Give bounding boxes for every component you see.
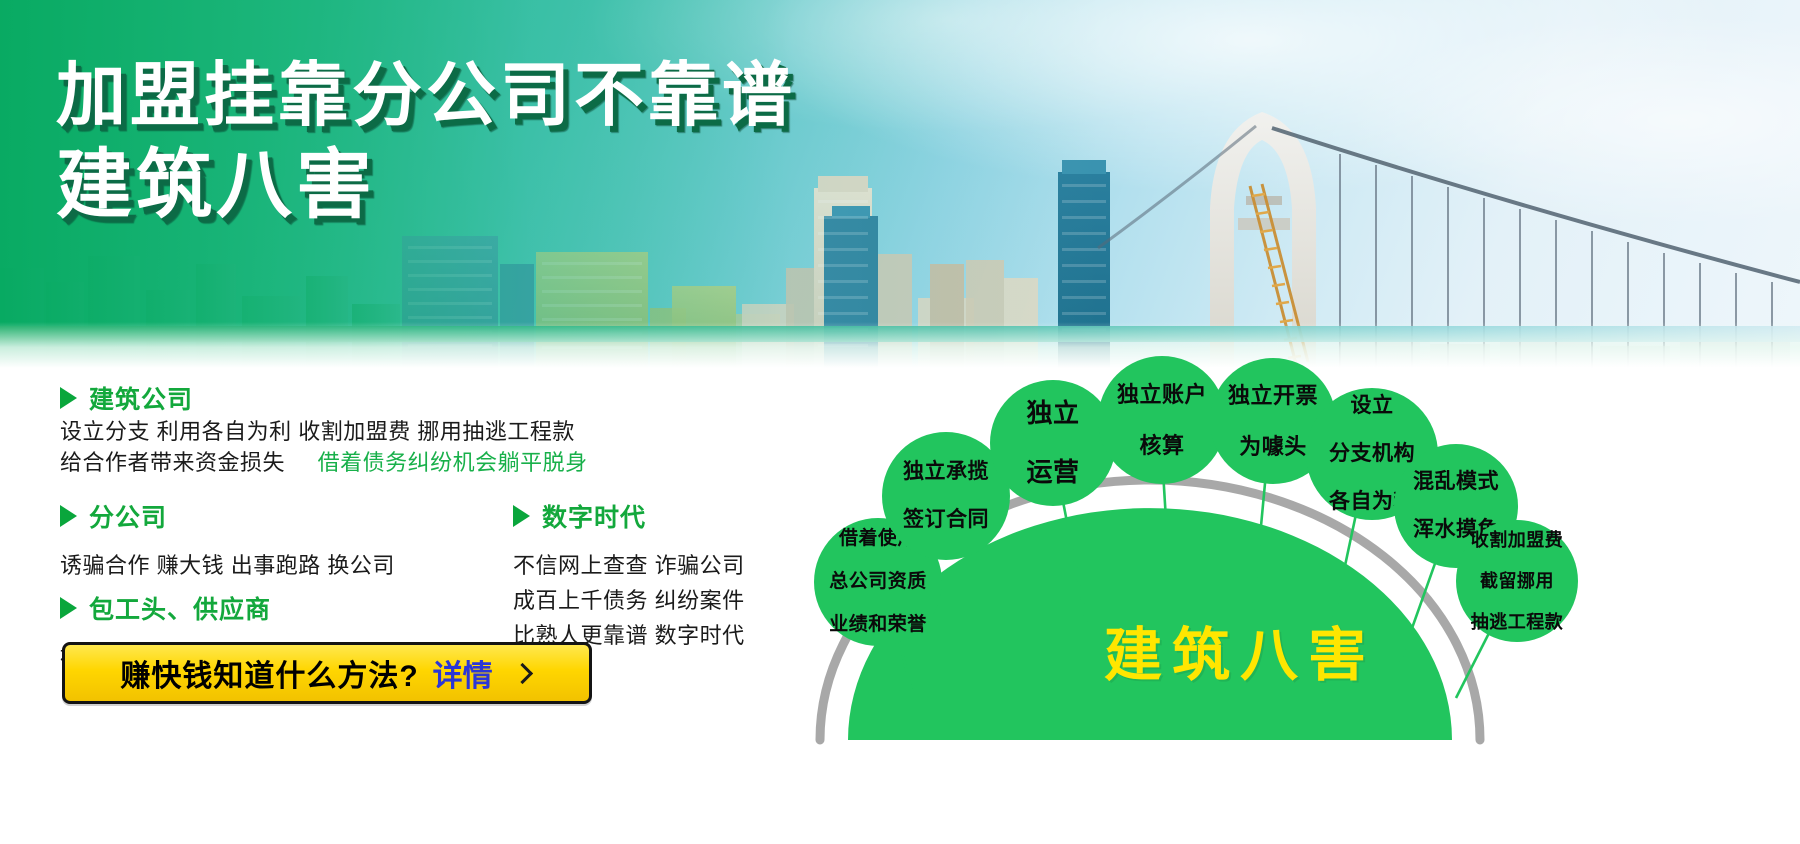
bubble-3[interactable]: 独立 运营 — [990, 380, 1116, 506]
bubble-2-line-2: 签订合同 — [897, 508, 995, 532]
bubble-3-line-1: 独立 — [1020, 399, 1085, 429]
left-content-column: 建筑公司 设立分支 利用各自为利 收割加盟费 挪用抽逃工程款 给合作者带来资金损… — [0, 380, 820, 844]
section-heading-contractor-supplier: 包工头、供应商 — [60, 590, 411, 626]
triangle-bullet-icon — [513, 505, 530, 527]
digital-age-line-2: 成百上千债务 纠纷案件 — [513, 585, 745, 616]
cta-detail-link[interactable]: 详情 — [433, 651, 493, 695]
digital-age-line-1: 不信网上查查 诈骗公司 — [513, 550, 745, 581]
section-title-text: 包工头、供应商 — [89, 590, 271, 626]
section-heading-branch-company: 分公司 — [60, 498, 395, 534]
section-branch-company: 分公司 诱骗合作 赚大钱 出事跑路 换公司 — [60, 498, 395, 581]
construction-company-line-2: 给合作者带来资金损失 借着债务纠纷机会躺平脱身 — [60, 447, 588, 478]
construction-company-line-2-black: 给合作者带来资金损失 — [60, 450, 285, 475]
bubble-7-line-1: 混乱模式 — [1407, 470, 1505, 494]
bubble-1-line-2: 总公司资质 — [823, 571, 933, 593]
bubble-3-line-2: 运营 — [1020, 458, 1085, 488]
bubble-8-line-2: 截留挪用 — [1465, 571, 1570, 592]
eight-harms-diagram: 借着使用 总公司资质 业绩和荣誉 独立承揽 签订合同 独立 运营 独立账户 核算… — [800, 340, 1800, 844]
cta-button[interactable]: 赚快钱知道什么方法? 详情 — [62, 642, 592, 704]
arch-center-label: 建筑八害 — [960, 608, 1520, 692]
section-digital-age: 数字时代 不信网上查查 诈骗公司 成百上千债务 纠纷案件 比熟人更靠谱 数字时代 — [513, 498, 745, 652]
section-heading-digital-age: 数字时代 — [513, 498, 745, 534]
construction-company-line-1: 设立分支 利用各自为利 收割加盟费 挪用抽逃工程款 — [60, 416, 588, 447]
bubble-4[interactable]: 独立账户 核算 — [1098, 356, 1226, 484]
hero-title-line-1: 加盟挂靠分公司不靠谱 — [56, 58, 796, 132]
bubble-8-line-1: 收割加盟费 — [1465, 530, 1570, 551]
bubble-6-line-2: 分支机构 — [1323, 442, 1421, 466]
triangle-bullet-icon — [60, 597, 77, 619]
bubble-1-line-3: 业绩和荣誉 — [823, 614, 933, 636]
construction-company-line-2-green: 借着债务纠纷机会躺平脱身 — [318, 450, 588, 475]
section-construction-company: 建筑公司 设立分支 利用各自为利 收割加盟费 挪用抽逃工程款 给合作者带来资金损… — [60, 380, 588, 478]
bubble-6-line-1: 设立 — [1323, 394, 1421, 418]
branch-company-line-1: 诱骗合作 赚大钱 出事跑路 换公司 — [60, 550, 395, 581]
hero-banner: 加盟挂靠分公司不靠谱 建筑八害 — [0, 0, 1800, 368]
bubble-2-line-1: 独立承揽 — [897, 460, 995, 484]
cta-main-text: 赚快钱知道什么方法? — [120, 651, 418, 695]
bubble-5-line-1: 独立开票 — [1222, 383, 1324, 408]
bubble-4-line-2: 核算 — [1111, 433, 1213, 458]
chevron-right-icon — [512, 662, 533, 683]
section-title-text: 建筑公司 — [89, 380, 193, 416]
section-title-text: 分公司 — [89, 498, 167, 534]
hero-title-line-2: 建筑八害 — [56, 146, 796, 227]
triangle-bullet-icon — [60, 387, 77, 409]
section-heading-construction-company: 建筑公司 — [60, 380, 588, 416]
page-title: 加盟挂靠分公司不靠谱 建筑八害 — [56, 58, 796, 227]
section-title-text: 数字时代 — [542, 498, 646, 534]
bubble-4-line-1: 独立账户 — [1111, 382, 1213, 407]
triangle-bullet-icon — [60, 505, 77, 527]
